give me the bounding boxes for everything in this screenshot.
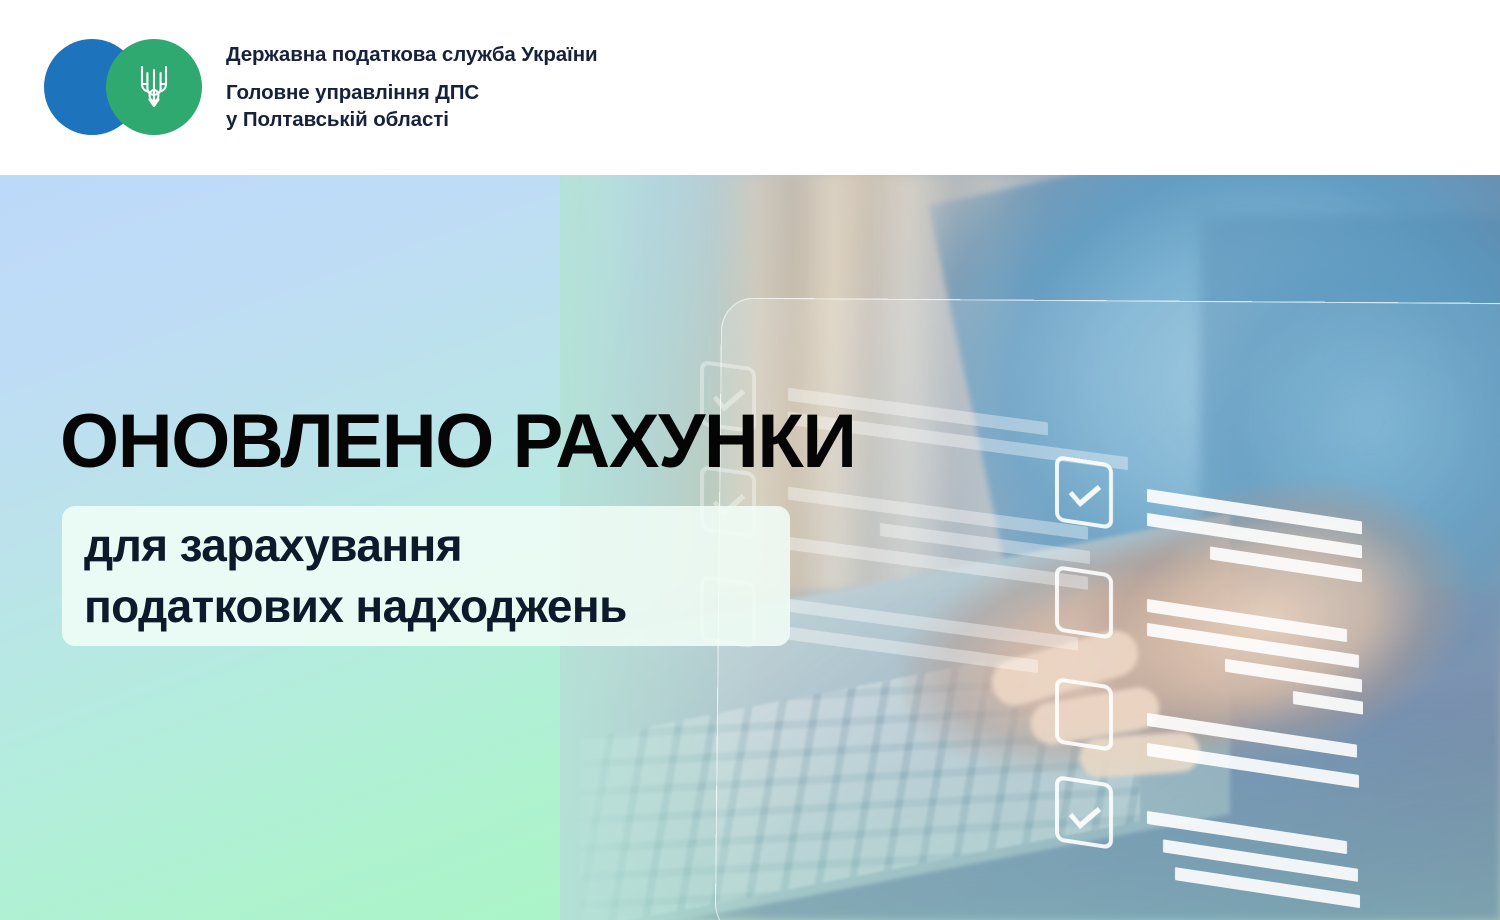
site-header: Державна податкова служба України Головн… — [0, 0, 1500, 175]
checkbox-icon — [1055, 455, 1113, 530]
check-icon — [1069, 476, 1102, 507]
checkbox-icon — [1055, 677, 1113, 752]
subtitle-line-2: податкових надходжень — [84, 576, 790, 637]
page-title: ОНОВЛЕНО РАХУНКИ — [60, 404, 856, 480]
checkbox-icon — [1055, 775, 1113, 850]
checkbox-icon — [1055, 565, 1113, 640]
check-icon — [1069, 798, 1102, 829]
org-department-line1: Головне управління ДПС — [226, 79, 598, 106]
poster-canvas: Державна податкова служба України Головн… — [0, 0, 1500, 920]
org-department-line2: у Полтавській області — [226, 106, 598, 133]
subtitle-line-1: для зарахування — [84, 515, 790, 576]
org-department: Головне управління ДПС у Полтавській обл… — [226, 79, 598, 133]
subtitle-panel: для зарахування податкових надходжень — [62, 506, 790, 646]
org-title: Державна податкова служба України — [226, 42, 598, 67]
header-text-block: Державна податкова служба України Головн… — [226, 42, 598, 133]
logo — [44, 39, 202, 135]
ukraine-trident-icon — [106, 39, 202, 135]
